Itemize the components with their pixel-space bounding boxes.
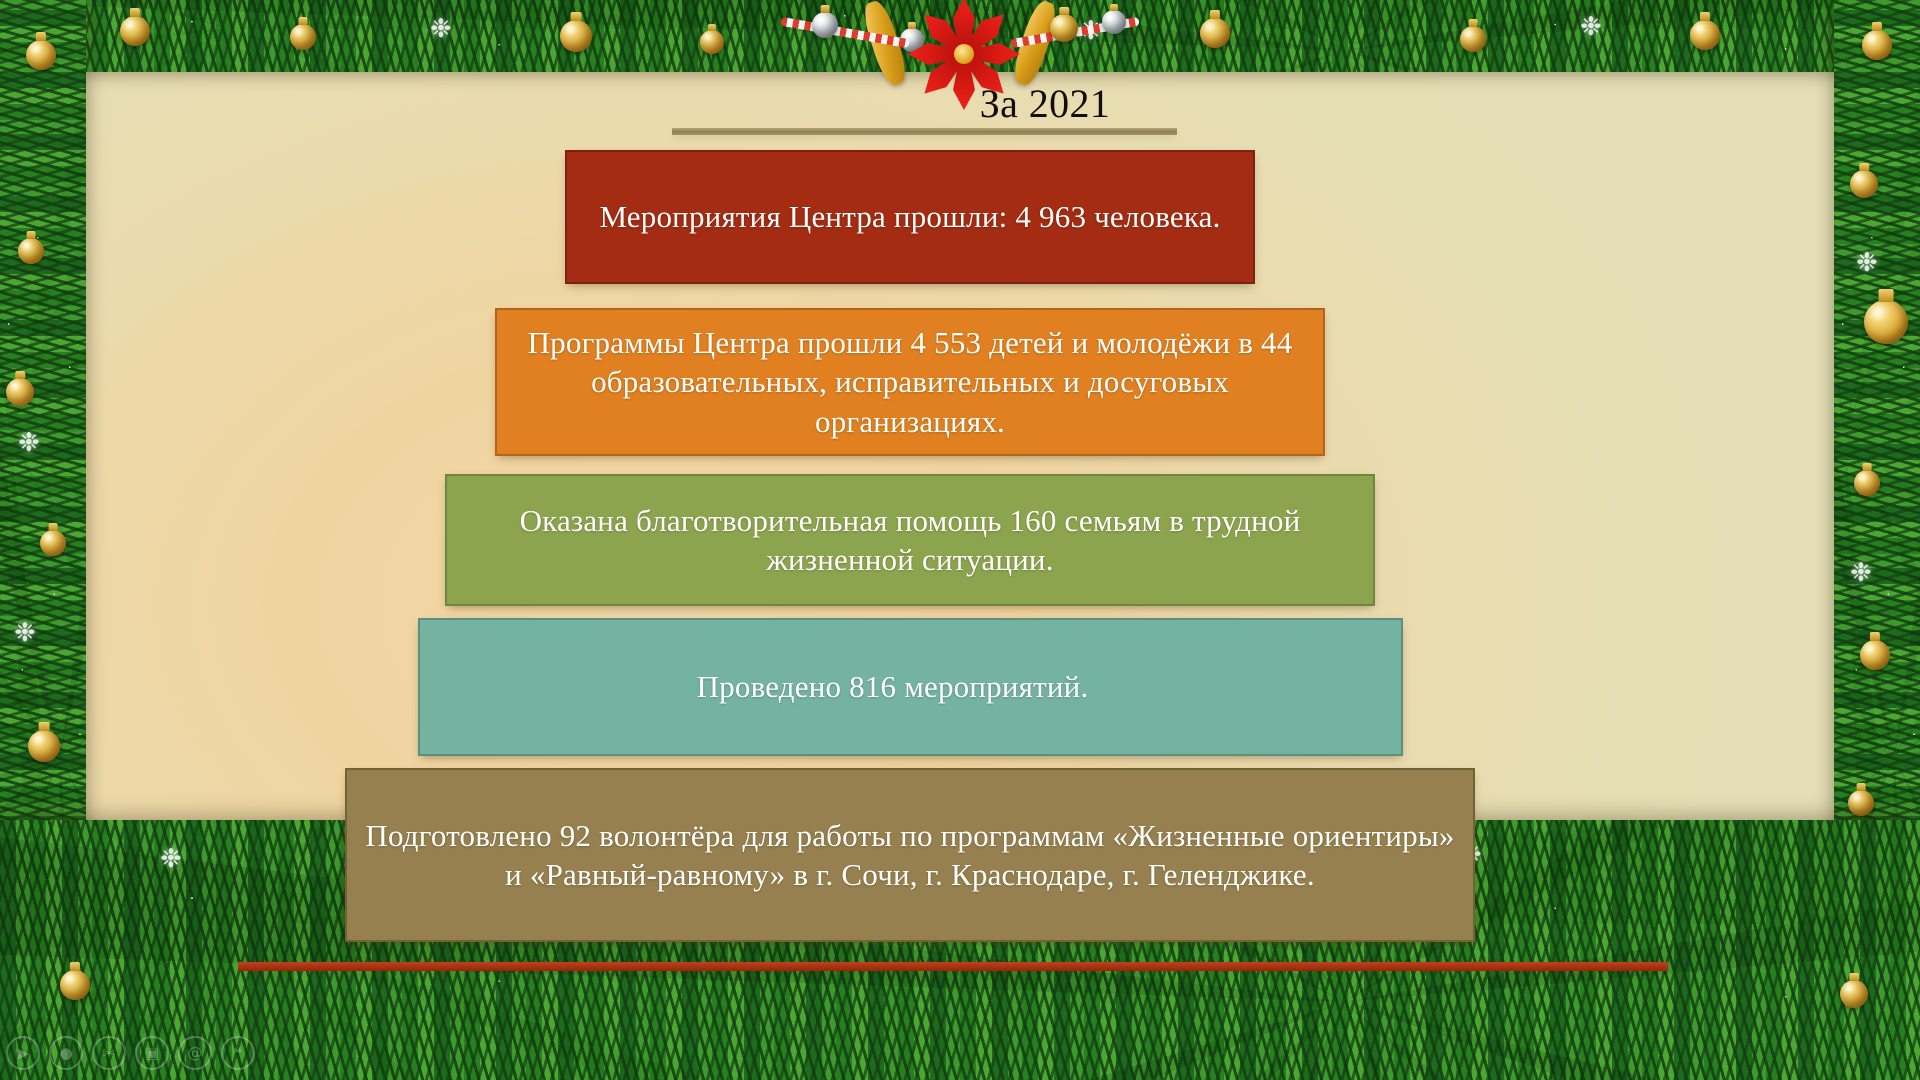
frost-specks [1834,0,1920,1080]
gold-bauble [18,238,44,264]
frost-specks [0,0,86,1080]
garland-left: ❉ ❉ [0,0,86,1080]
gold-bauble [1854,470,1880,496]
snowflake-icon: ❉ [1580,14,1602,40]
gold-bauble [40,530,66,556]
gold-bauble [24,852,72,900]
gold-bauble [1690,20,1720,50]
pine-needles-texture [0,0,86,1080]
frame-icon: ▣ [135,1036,169,1070]
gold-bauble [1850,170,1878,198]
record-icon: ● [49,1036,83,1070]
gold-bauble [1200,18,1230,48]
slide-canvas: ❉ ❉ ❉ ❉ ❉ [0,0,1920,1080]
flower-core [954,44,974,64]
bottom-divider [238,962,1668,971]
gold-bauble [1848,790,1874,816]
stat-bar-text: Проведено 816 мероприятий. [679,667,1107,706]
play-icon: ▶ [6,1036,40,1070]
stat-bar-events-attendance: Мероприятия Центра прошли: 4 963 человек… [565,150,1255,284]
scissors-icon: ✂ [92,1036,126,1070]
gold-bauble [26,40,56,70]
at-icon: @ [178,1036,212,1070]
gold-bauble [290,24,316,50]
stat-bar-events-count: Проведено 816 мероприятий. [418,618,1403,756]
gold-bauble [700,30,724,54]
snowflake-icon: ❉ [14,620,36,646]
gold-bauble [1862,30,1892,60]
gold-bauble [60,970,90,1000]
stat-bar-text: Подготовлено 92 волонтёра для работы по … [347,816,1473,894]
snowflake-icon: ❉ [1856,250,1878,276]
silver-bauble [1102,10,1126,34]
gold-bauble [560,20,592,52]
stat-bar-volunteers: Подготовлено 92 волонтёра для работы по … [345,768,1475,942]
snowflake-icon: ❉ [160,846,182,872]
stat-bar-text: Оказана благотворительная помощь 160 сем… [447,501,1373,579]
stat-bar-programs: Программы Центра прошли 4 553 детей и мо… [495,308,1325,456]
gold-bauble [1840,980,1868,1008]
gold-bauble [1460,26,1486,52]
gold-bauble [6,378,34,406]
gold-bauble [120,16,150,46]
snowflake-icon: ❉ [430,16,452,42]
title-divider [672,128,1177,135]
stat-bar-charity: Оказана благотворительная помощь 160 сем… [445,474,1375,606]
snowflake-icon: ❉ [18,430,40,456]
silver-bauble [812,12,838,38]
gold-bauble [1050,14,1078,42]
watermark: ▶ ● ✂ ▣ @ ❝ [6,1030,336,1076]
gold-bauble [28,730,60,762]
stat-bar-text: Мероприятия Центра прошли: 4 963 человек… [581,197,1238,236]
garland-right: ❉ ❉ [1834,0,1920,1080]
pine-needles-texture [1834,0,1920,1080]
gold-bauble [1864,300,1908,344]
stat-bar-text: Программы Центра прошли 4 553 детей и мо… [497,323,1323,440]
page-title: За 2021 [560,80,1260,127]
gold-bauble [1860,640,1890,670]
snowflake-icon: ❉ [1850,560,1872,586]
gold-bauble [32,990,60,1018]
quote-icon: ❝ [221,1036,255,1070]
